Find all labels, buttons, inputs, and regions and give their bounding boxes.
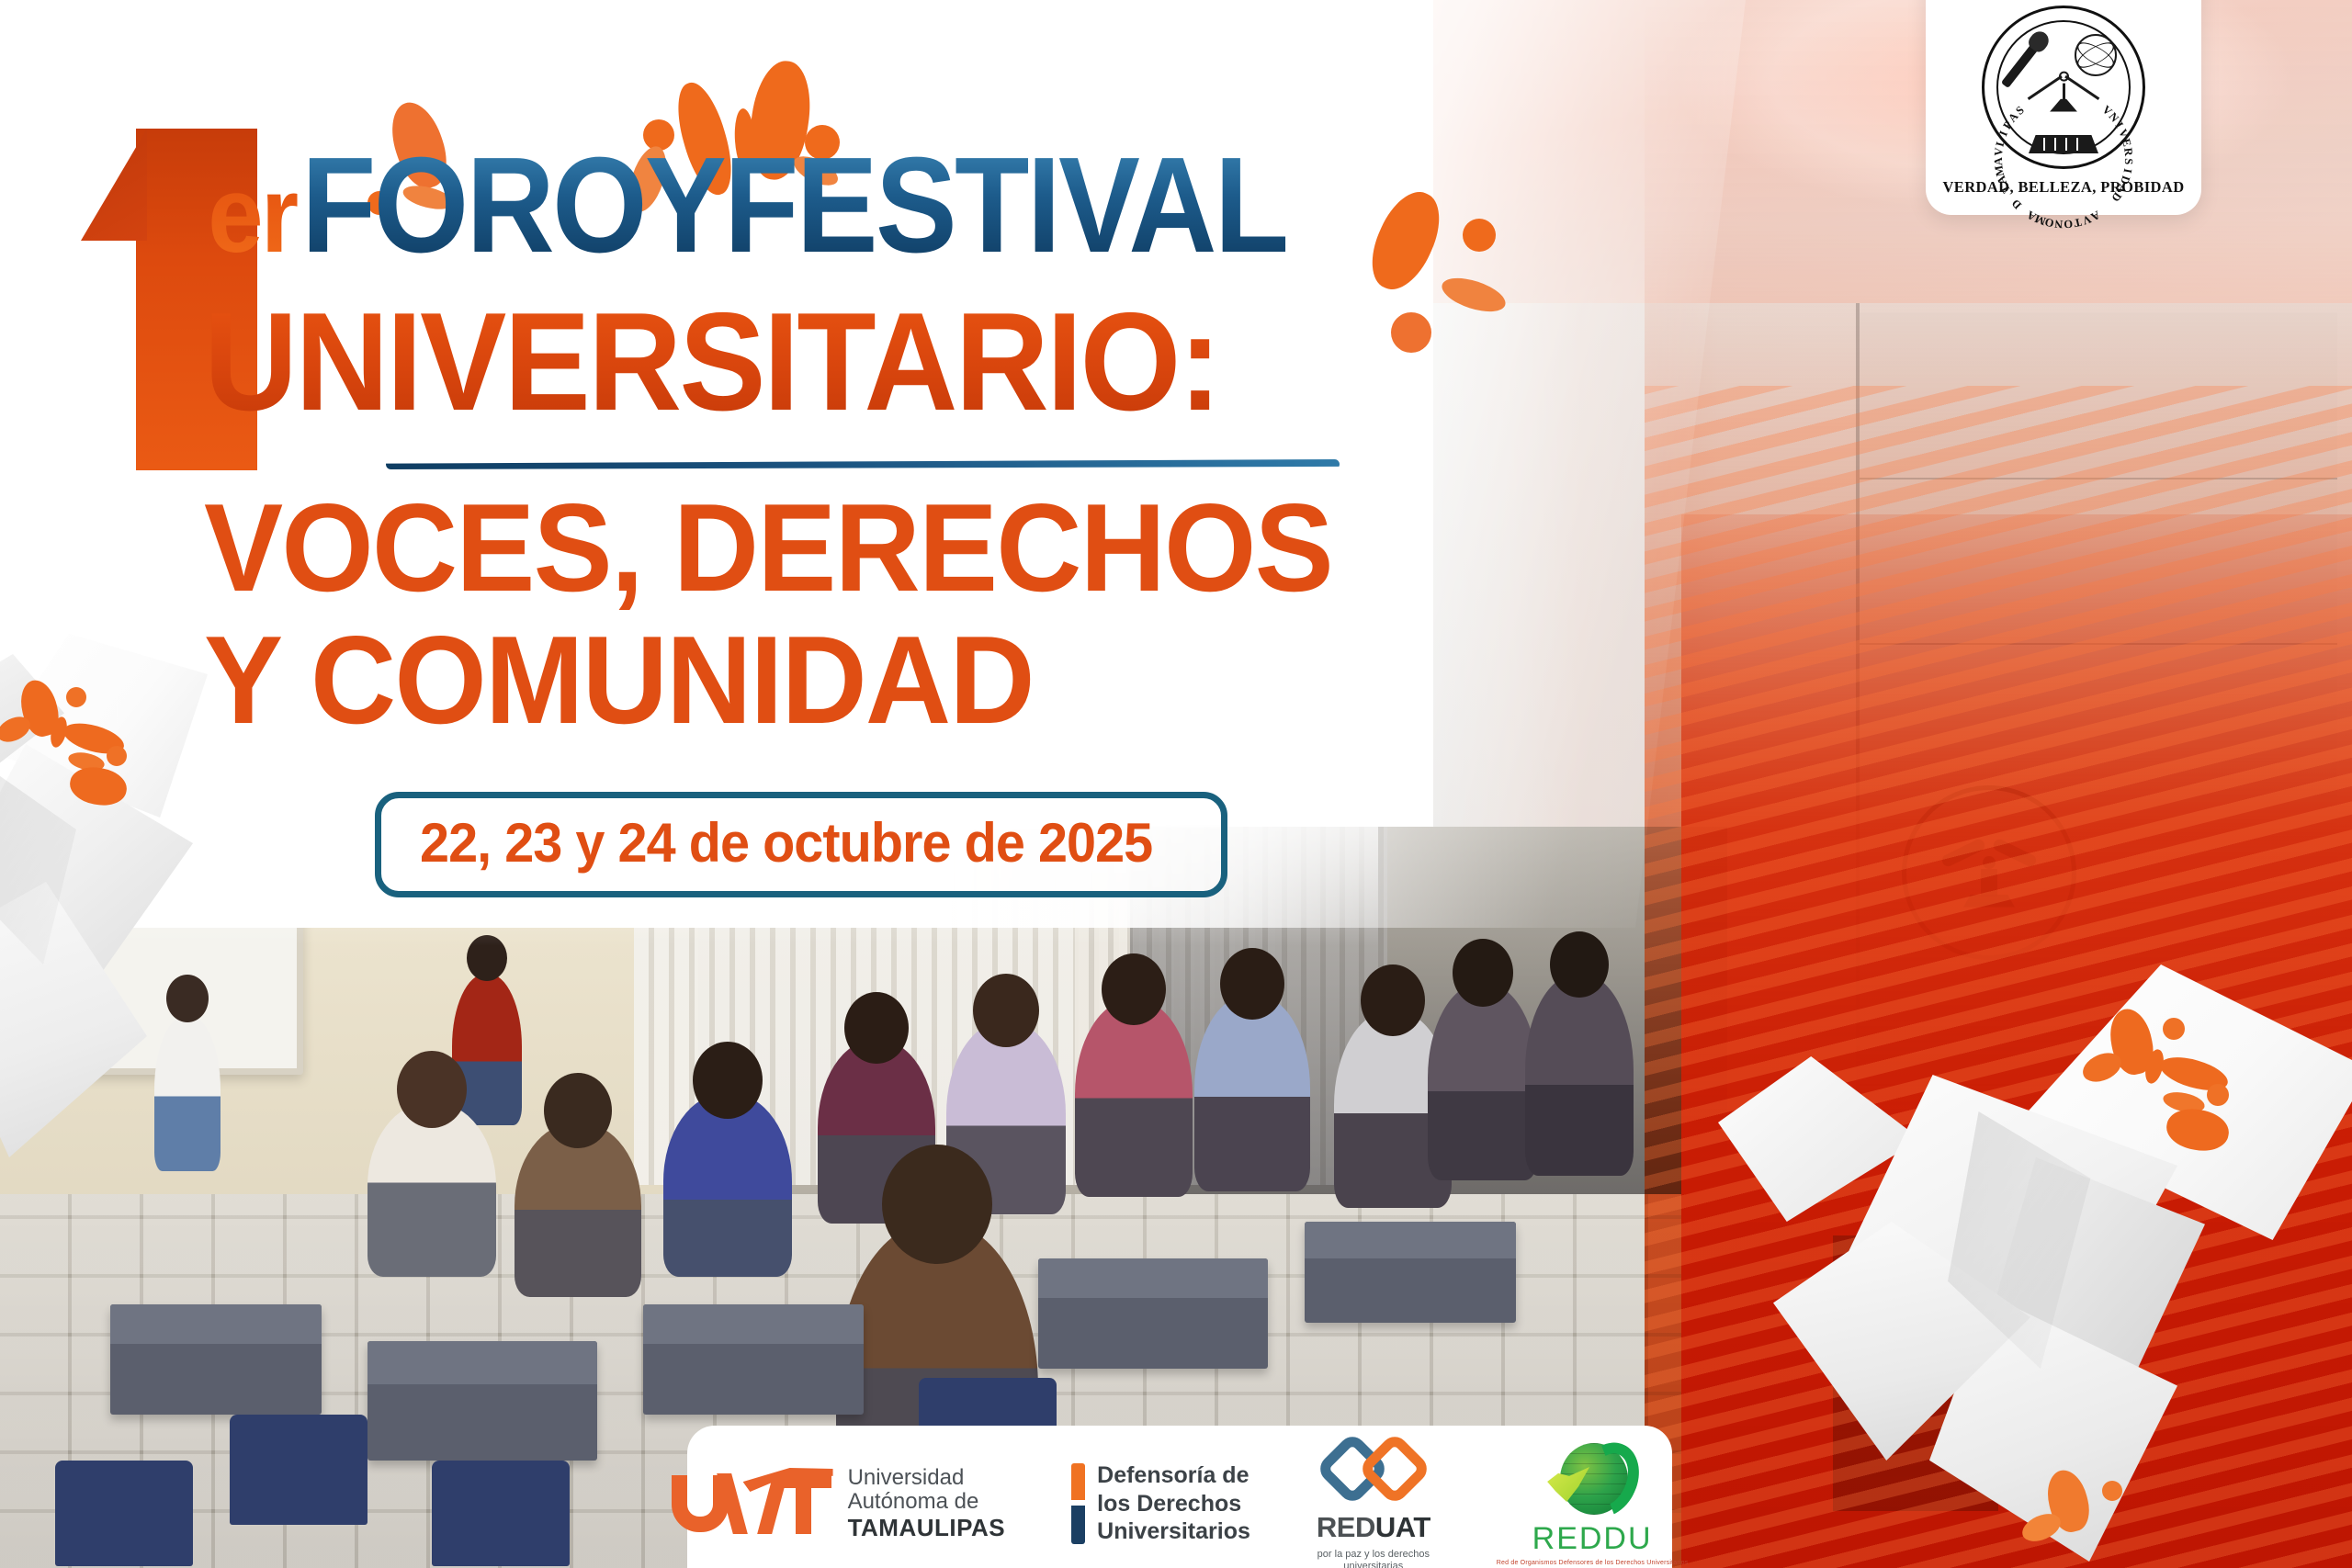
logo-reddu: REDDU Red de Organismos Defensores de lo… [1497,1441,1689,1566]
logo-defensoria: Defensoría de los Derechos Universitario… [1071,1461,1250,1546]
defensoria-line2: los Derechos [1097,1490,1250,1518]
uat-line3: TAMAULIPAS [848,1515,1006,1541]
defensoria-bars-icon [1071,1463,1085,1544]
orange-gradient-wash [1645,0,2352,1568]
event-poster: erFOROYFESTIVAL UNIVERSITARIO: VOCES, DE… [0,0,2352,1568]
defensoria-line1: Defensoría de [1097,1461,1250,1490]
doorway-showthrough [1833,1235,1998,1511]
title-underline [386,459,1340,469]
event-date-badge: 22, 23 y 24 de octubre de 2025 [375,792,1227,897]
uat-seal-motto: VERDAD, BELLEZA, PROBIDAD [1942,178,2184,197]
title-line-comunidad: Y COMUNIDAD [204,617,1034,742]
uat-seal-card: VNIVERSIDAD AVTONOMA D TAMAVLIPAS VERDAD… [1926,0,2201,215]
uat-line1: Universidad [848,1466,1006,1491]
uat-logomark-icon [672,1468,833,1540]
red-uat-sub2: universitarias [1317,1561,1430,1568]
event-date-text: 22, 23 y 24 de octubre de 2025 [420,811,1152,874]
red-uat-word2: UAT [1375,1511,1430,1543]
title-foro-festival: FOROYFESTIVAL [301,138,1286,274]
red-uat-links-icon [1326,1435,1421,1506]
logo-uat: Universidad Autónoma de TAMAULIPAS [672,1466,1006,1542]
uat-line2: Autónoma de [848,1490,1006,1515]
logo-red-uat: REDUAT por la paz y los derechos univers… [1317,1435,1430,1568]
title-block: erFOROYFESTIVAL UNIVERSITARIO: VOCES, DE… [0,0,1562,900]
uat-seal-arc-text: VNIVERSIDAD AVTONOMA D TAMAVLIPAS [1984,8,2143,166]
title-line-voces: VOCES, DERECHOS [204,485,1332,610]
title-line-universitario: UNIVERSITARIO: [204,292,1219,432]
reddu-subtitle: Red de Organismos Defensores de los Dere… [1497,1560,1689,1566]
title-line-foro: erFOROYFESTIVAL [204,138,1396,274]
red-uat-sub1: por la paz y los derechos [1317,1549,1430,1561]
sponsor-logo-bar: Universidad Autónoma de TAMAULIPAS Defen… [687,1426,1672,1568]
reddu-wordmark: REDDU [1532,1521,1653,1557]
reddu-globe-dove-icon [1547,1441,1637,1518]
defensoria-line3: Universitarios [1097,1517,1250,1546]
red-uat-word1: RED [1317,1511,1375,1543]
ordinal-suffix: er [208,161,297,269]
uat-seal-emblem: VNIVERSIDAD AVTONOMA D TAMAVLIPAS [1982,6,2145,169]
